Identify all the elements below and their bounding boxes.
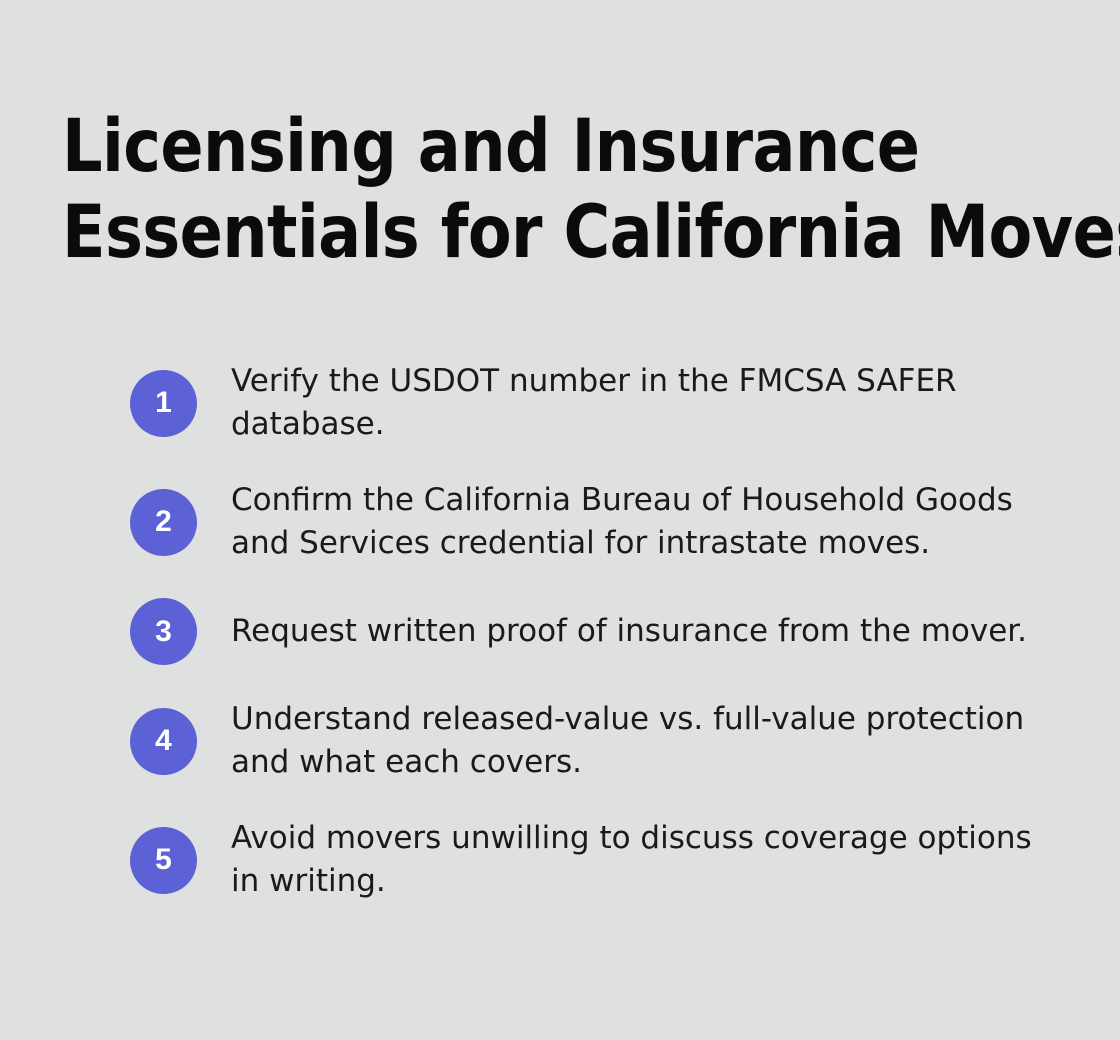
list-item-number-badge: 5 xyxy=(130,827,197,894)
list-item-number-badge: 2 xyxy=(130,489,197,556)
list-item-text: Avoid movers unwilling to discuss covera… xyxy=(231,817,1051,903)
list-item: 5 Avoid movers unwilling to discuss cove… xyxy=(130,817,1060,903)
page-title-line-2: Essentials for California Moves xyxy=(62,190,1032,276)
list-item-number-badge: 1 xyxy=(130,370,197,437)
page-title: Licensing and Insurance Essentials for C… xyxy=(62,104,1062,276)
list-item-text: Confirm the California Bureau of Househo… xyxy=(231,479,1051,565)
list-item-text: Understand released-value vs. full-value… xyxy=(231,698,1051,784)
list-item: 1 Verify the USDOT number in the FMCSA S… xyxy=(130,360,1060,446)
numbered-checklist: 1 Verify the USDOT number in the FMCSA S… xyxy=(130,360,1060,903)
list-item: 3 Request written proof of insurance fro… xyxy=(130,598,1060,665)
infographic-poster: Licensing and Insurance Essentials for C… xyxy=(0,0,1120,1040)
list-item-number-badge: 4 xyxy=(130,708,197,775)
list-item-text: Request written proof of insurance from … xyxy=(231,610,1027,653)
list-item-number-badge: 3 xyxy=(130,598,197,665)
page-title-line-1: Licensing and Insurance xyxy=(62,104,1032,190)
list-item-text: Verify the USDOT number in the FMCSA SAF… xyxy=(231,360,1051,446)
list-item: 2 Confirm the California Bureau of House… xyxy=(130,479,1060,565)
list-item: 4 Understand released-value vs. full-val… xyxy=(130,698,1060,784)
